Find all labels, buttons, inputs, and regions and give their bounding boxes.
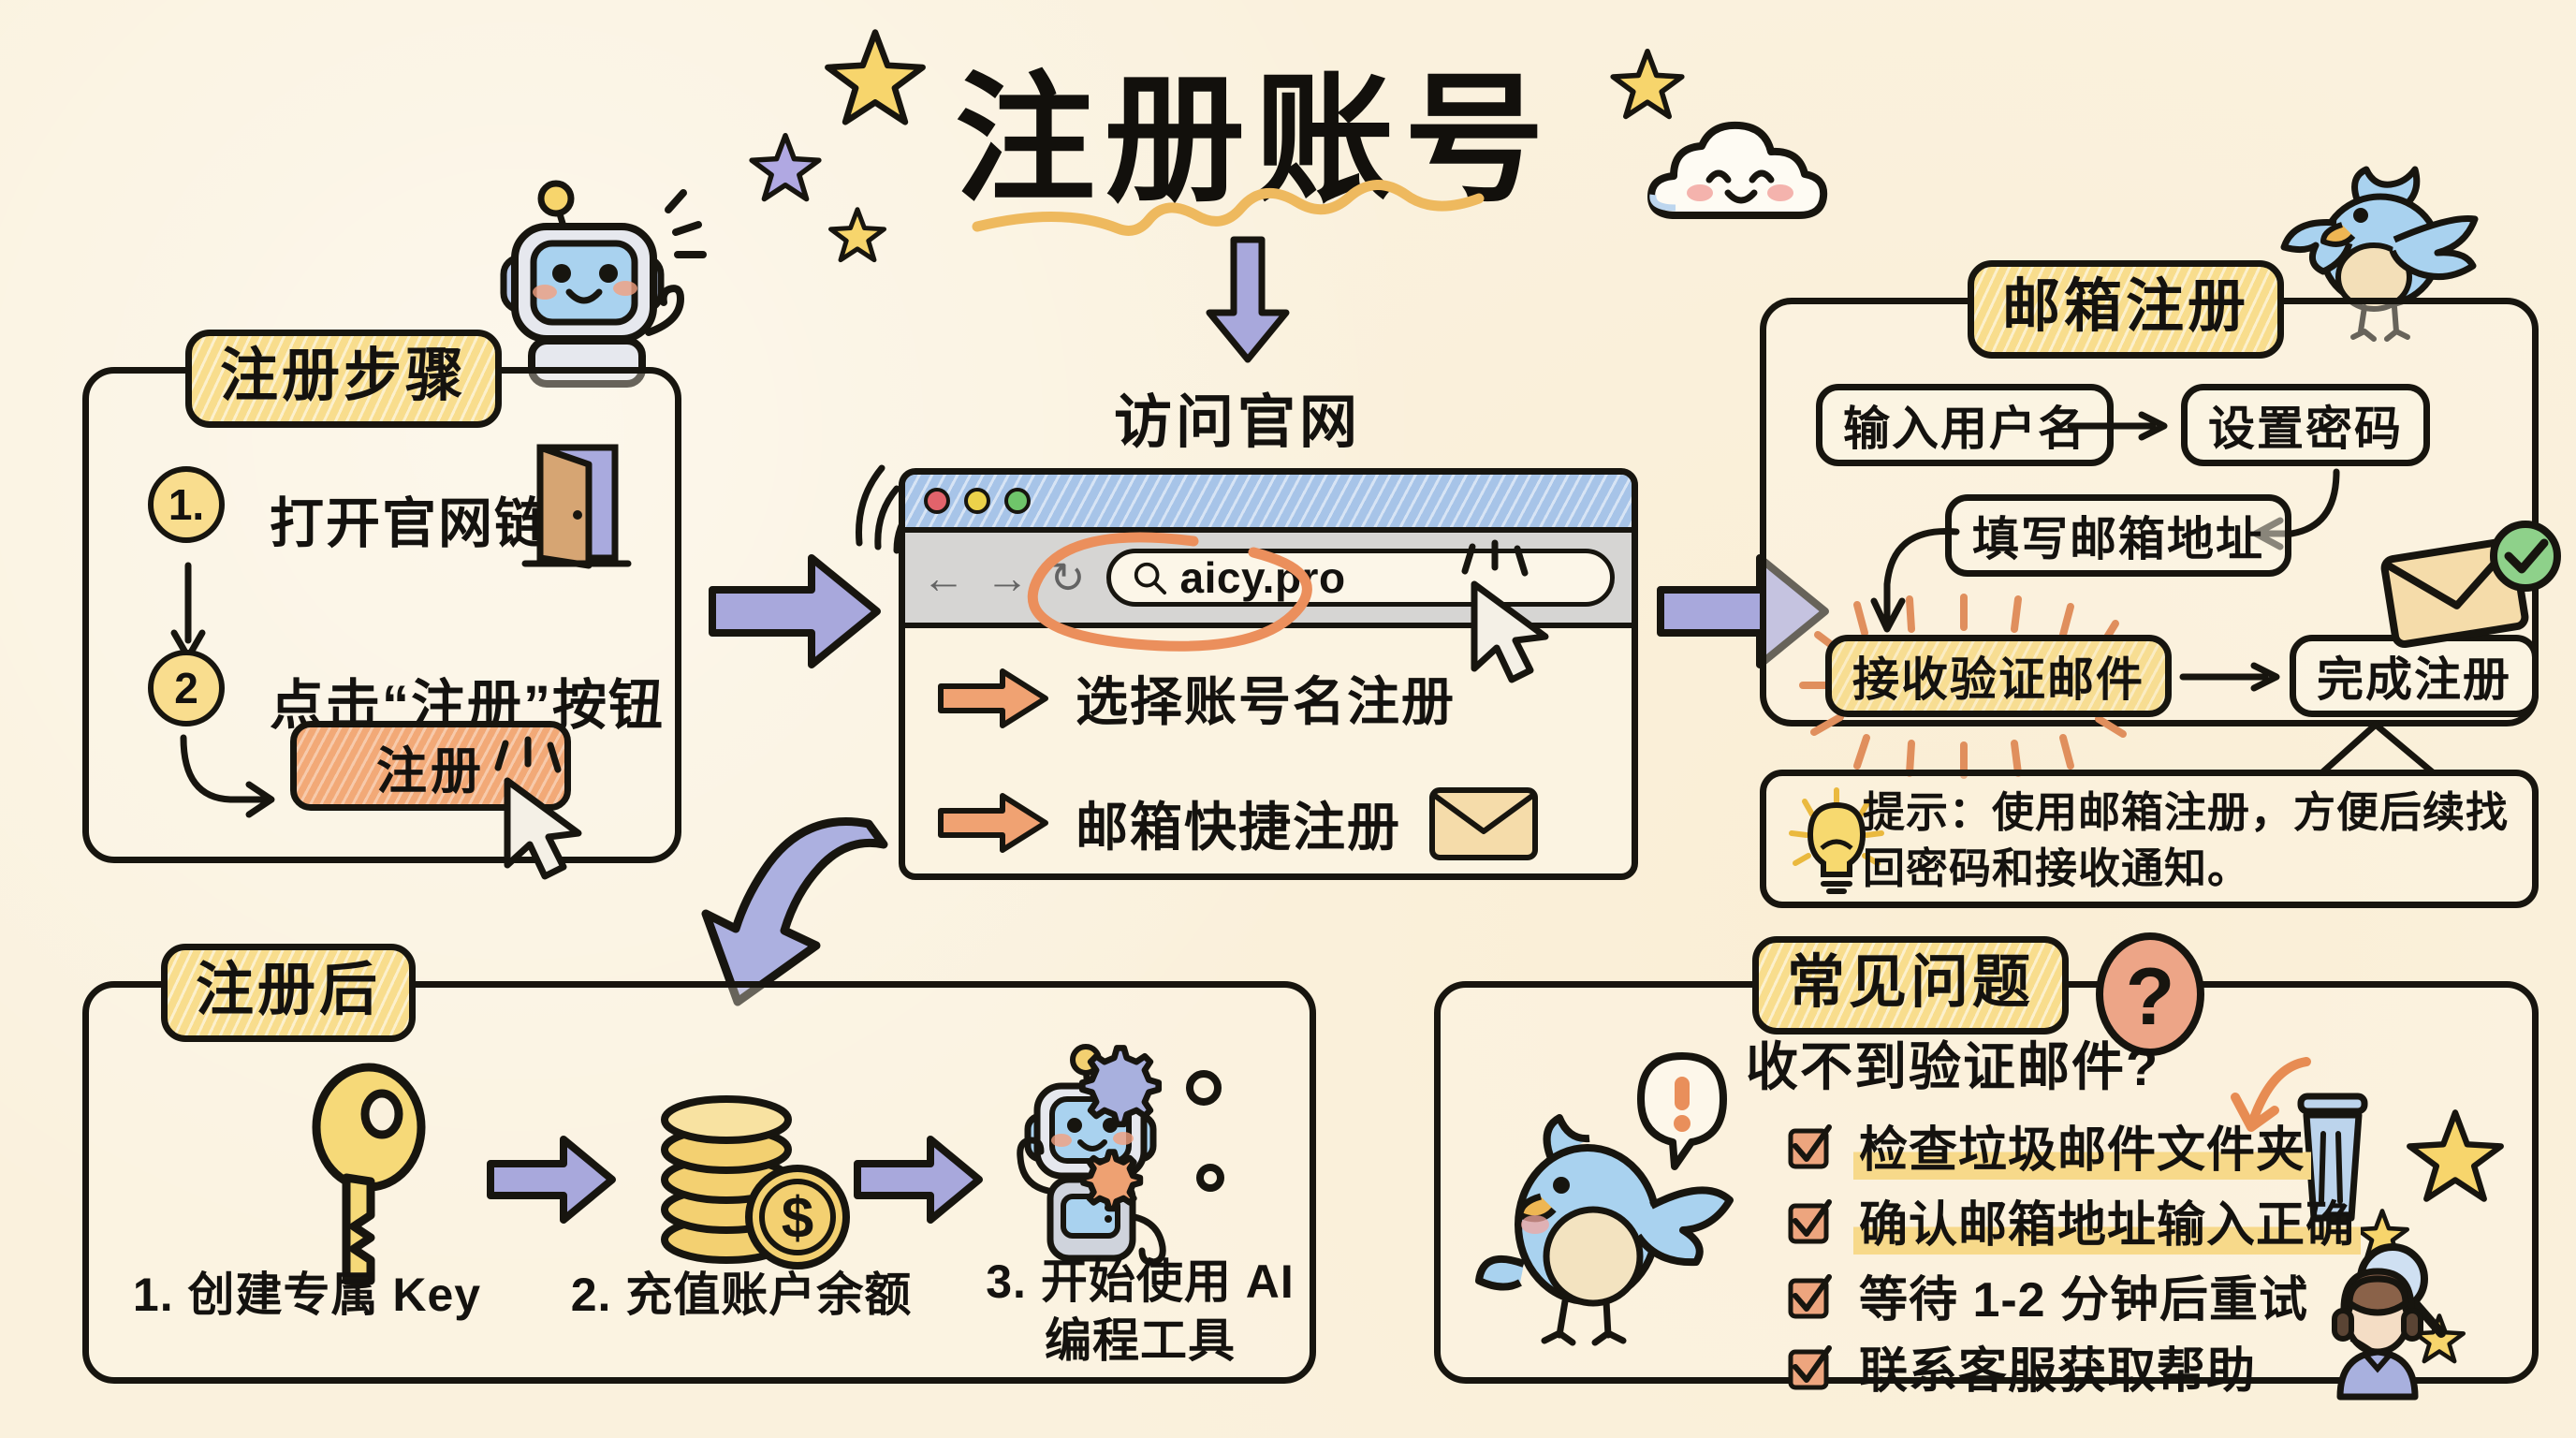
faq-item-label: 等待 1-2 分钟后重试 (1853, 1260, 2314, 1332)
email-chip-password[interactable]: 设置密码 (2181, 384, 2430, 466)
url-highlight-circle-icon (1025, 526, 1325, 657)
purple-arrow-icon (854, 1128, 985, 1231)
faq-item[interactable]: 等待 1-2 分钟后重试 (1788, 1260, 2314, 1332)
faq-panel-title: 常见问题 (1752, 936, 2069, 1034)
after-item-1-caption: 1. 创建专属 Key (110, 1266, 504, 1325)
right-arrow-icon (707, 541, 885, 682)
orange-arrow-icon (937, 666, 1049, 731)
star-yellow-small-icon (828, 206, 886, 264)
cursor-click-icon (1446, 543, 1568, 683)
check-box-icon (1788, 1200, 1831, 1243)
faq-item-label: 确认邮箱地址输入正确 (1853, 1185, 2361, 1257)
chip-arrow-icon (2179, 661, 2282, 693)
envelope-check-icon (2378, 517, 2565, 667)
step-2-curve-arrow-icon (168, 730, 290, 833)
tip-text: 提示：使用邮箱注册，方便后续找回密码和接收通知。 (1863, 785, 2518, 898)
browser-option-row[interactable]: 邮箱快捷注册 (937, 781, 1632, 865)
title-underline-scribble (973, 204, 1573, 232)
after-item-3-caption: 3. 开始使用 AI 编程工具 (944, 1253, 1337, 1370)
step-2-number: 2 (148, 650, 225, 726)
chip-arrow-icon (2067, 410, 2170, 442)
traffic-light-maximize-icon[interactable] (1004, 488, 1031, 514)
arrow-left-icon[interactable]: ← (922, 552, 965, 603)
faq-item[interactable]: 检查垃圾邮件文件夹 (1788, 1110, 2311, 1182)
faq-item[interactable]: 联系客服获取帮助 (1788, 1331, 2261, 1403)
star-yellow-large-icon (824, 26, 927, 129)
tip-connector-icon (2318, 721, 2449, 777)
steps-panel-title: 注册步骤 (185, 330, 502, 428)
curved-down-left-arrow-icon (695, 756, 957, 1019)
star-purple-icon (749, 131, 822, 204)
star-icon (2406, 1107, 2505, 1206)
arrow-right-icon[interactable]: → (986, 552, 1029, 603)
traffic-light-close-icon[interactable] (924, 488, 950, 514)
after-item-2-caption: 2. 充值账户余额 (535, 1266, 947, 1325)
after-item-3-caption-line1: 3. 开始使用 AI (944, 1253, 1337, 1312)
open-door-icon (520, 442, 632, 573)
email-chip-address[interactable]: 填写邮箱地址 (1945, 494, 2291, 577)
envelope-icon (1427, 781, 1540, 865)
infographic-canvas: 注册账号 注册步骤 1. 打开官网链接 2 点击“注册”按钮 注册 访问官网 (0, 0, 2576, 1438)
step-1-number: 1. (148, 466, 225, 543)
email-panel-title: 邮箱注册 (1968, 260, 2284, 359)
svg-text:$: $ (782, 1186, 813, 1251)
faq-item-label: 联系客服获取帮助 (1853, 1331, 2261, 1403)
check-box-icon (1788, 1125, 1831, 1168)
smiling-cloud-icon (1638, 110, 1835, 232)
email-chip-receive-verification[interactable]: 接收验证邮件 (1825, 635, 2172, 717)
after-panel-title: 注册后 (161, 944, 416, 1042)
coins-icon: $ (637, 1075, 852, 1281)
support-agent-icon (2312, 1260, 2443, 1401)
browser-titlebar (905, 475, 1632, 533)
faq-item[interactable]: 确认邮箱地址输入正确 (1788, 1185, 2361, 1257)
visit-site-label: 访问官网 (1114, 374, 1361, 459)
check-box-icon (1788, 1346, 1831, 1389)
after-item-3-caption-line2: 编程工具 (944, 1312, 1337, 1371)
down-arrow-icon (1206, 234, 1290, 365)
robot-gears-icon (983, 1039, 1245, 1273)
traffic-light-minimize-icon[interactable] (964, 488, 990, 514)
check-box-icon (1788, 1275, 1831, 1318)
cursor-click-icon (479, 740, 601, 880)
browser-option-label: 邮箱快捷注册 (1076, 785, 1401, 861)
robot-waving-icon (476, 140, 710, 384)
faq-question: 收不到验证邮件? (1746, 1025, 2159, 1101)
key-icon (288, 1060, 447, 1294)
browser-option-label: 选择账号名注册 (1076, 660, 1456, 736)
purple-arrow-icon (487, 1128, 618, 1231)
faq-item-label: 检查垃圾邮件文件夹 (1853, 1110, 2311, 1182)
exclamation-bubble-icon (1631, 1050, 1734, 1170)
